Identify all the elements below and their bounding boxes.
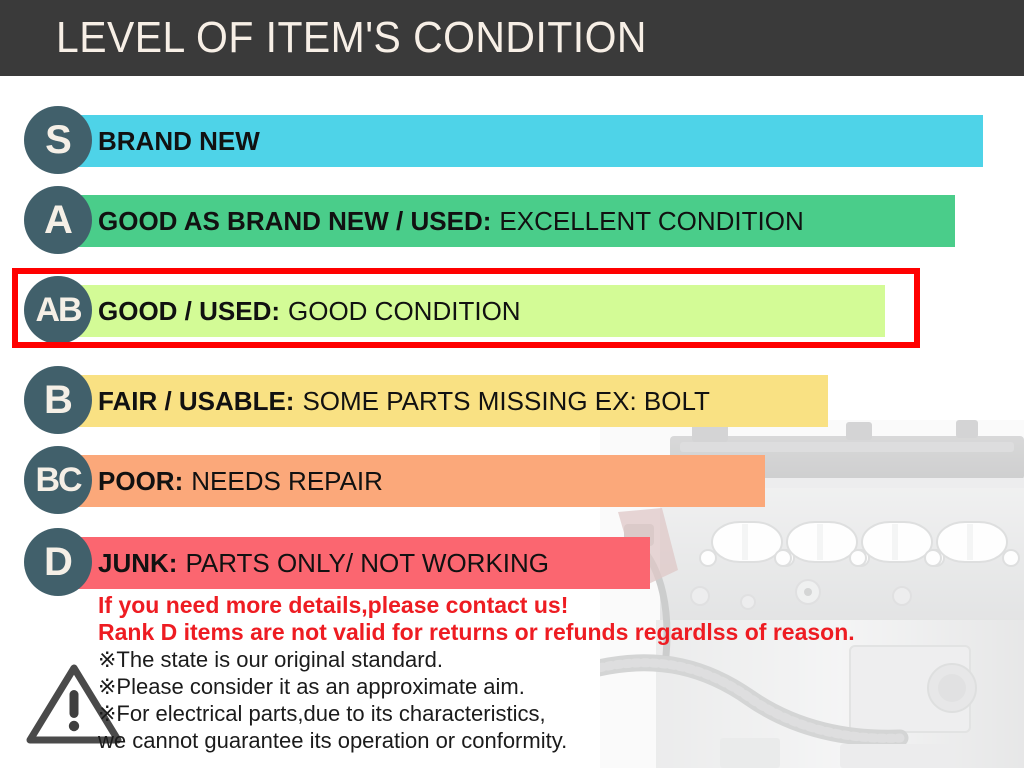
note-plain-1: ※The state is our original standard. <box>98 646 1008 673</box>
note-red-1: If you need more details,please contact … <box>98 592 1008 619</box>
rank-lead-d: JUNK: <box>98 548 177 579</box>
notes-block: If you need more details,please contact … <box>98 592 1008 754</box>
rank-badge-s: S <box>24 106 92 174</box>
rank-tail-bc: NEEDS REPAIR <box>191 466 383 497</box>
rank-tail-ab: GOOD CONDITION <box>288 296 521 327</box>
rank-tail-a: EXCELLENT CONDITION <box>499 206 803 237</box>
rank-badge-d: D <box>24 528 92 596</box>
rank-label-a: GOOD AS BRAND NEW / USED: EXCELLENT COND… <box>98 195 804 247</box>
note-plain-2: ※Please consider it as an approximate ai… <box>98 673 1008 700</box>
rank-lead-bc: POOR: <box>98 466 183 497</box>
rank-lead-s: BRAND NEW <box>98 126 260 157</box>
rank-badge-b: B <box>24 366 92 434</box>
rank-tail-b: SOME PARTS MISSING EX: BOLT <box>302 386 709 417</box>
rank-label-b: FAIR / USABLE: SOME PARTS MISSING EX: BO… <box>98 375 710 427</box>
page-title: LEVEL OF ITEM'S CONDITION <box>56 14 647 62</box>
rank-lead-a: GOOD AS BRAND NEW / USED: <box>98 206 491 237</box>
note-plain-3: ※For electrical parts,due to its charact… <box>98 700 1008 727</box>
note-red-2: Rank D items are not valid for returns o… <box>98 619 1008 646</box>
note-plain-4: we cannot guarantee its operation or con… <box>98 727 1008 754</box>
rank-badge-a: A <box>24 186 92 254</box>
rank-badge-ab: AB <box>24 276 92 344</box>
header-bar: LEVEL OF ITEM'S CONDITION <box>0 0 1024 76</box>
rank-label-d: JUNK: PARTS ONLY/ NOT WORKING <box>98 537 549 589</box>
rank-lead-b: FAIR / USABLE: <box>98 386 294 417</box>
condition-chart-page: LEVEL OF ITEM'S CONDITION S BRAND NEW A … <box>0 0 1024 768</box>
rank-label-s: BRAND NEW <box>98 115 268 167</box>
rank-badge-bc: BC <box>24 446 92 514</box>
rank-lead-ab: GOOD / USED: <box>98 296 280 327</box>
rank-tail-d: PARTS ONLY/ NOT WORKING <box>185 548 549 579</box>
rank-label-ab: GOOD / USED: GOOD CONDITION <box>98 285 521 337</box>
rank-label-bc: POOR: NEEDS REPAIR <box>98 455 383 507</box>
